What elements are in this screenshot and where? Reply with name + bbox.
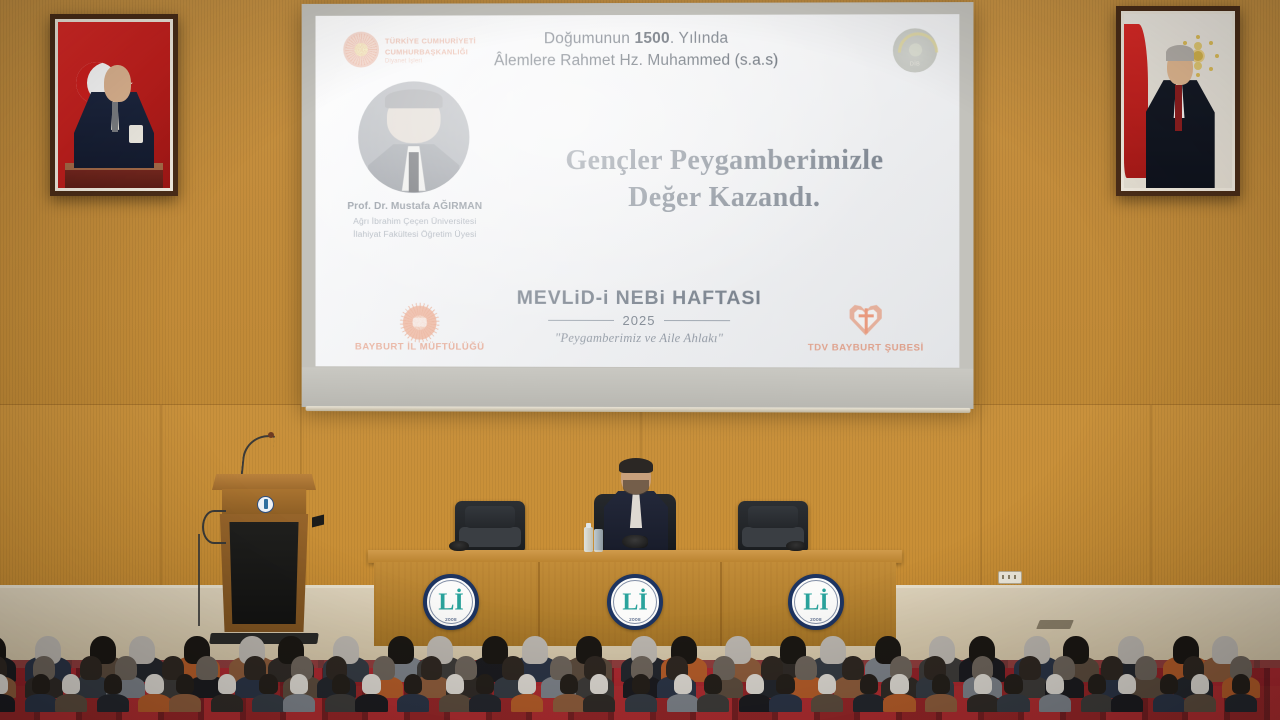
audience-member-head <box>421 656 443 680</box>
audience-member-head <box>518 674 536 694</box>
university-logo: Lİ 2008 <box>423 574 479 630</box>
audience-member <box>97 694 129 712</box>
desk-microphone <box>449 541 469 551</box>
portrait-tie <box>1175 85 1181 130</box>
audience-member <box>697 694 729 712</box>
audience-member-head <box>259 674 277 694</box>
audience-member <box>853 694 885 712</box>
audience-member-head <box>932 674 950 694</box>
speaker-affiliation-line2: İlahiyat Fakültesi Öğretim Üyesi <box>316 228 515 241</box>
water-bottle <box>584 527 593 552</box>
audience-member <box>138 694 170 712</box>
audience-member-head <box>1088 674 1106 694</box>
audience-member-head <box>145 674 163 694</box>
audience-member <box>739 694 771 712</box>
audience-member <box>667 694 699 712</box>
audience-member <box>325 694 357 712</box>
presentation-slide: TÜRKİYE CUMHURİYETİ CUMHURBAŞKANLIĞI Diy… <box>316 14 960 368</box>
slide-title-line2: Değer Kazandı. <box>504 180 945 217</box>
org-right: TDV BAYBURT ŞUBESİ <box>790 302 941 353</box>
audience-member-head <box>476 674 494 694</box>
audience-member <box>1184 694 1216 712</box>
header-suffix: . Yılında <box>670 30 728 47</box>
wall-outlet <box>998 571 1022 584</box>
audience-member-head <box>1019 656 1041 680</box>
audience-member <box>553 694 585 712</box>
header-number: 1500 <box>635 30 670 47</box>
portrait-pocket-square <box>129 125 144 143</box>
slide-header: Doğumunun 1500. Yılında Âlemlere Rahmet … <box>316 28 960 73</box>
podium-cable <box>198 534 200 626</box>
university-logo: Lİ 2008 <box>788 574 844 630</box>
audience-member <box>769 694 801 712</box>
audience-member <box>1039 694 1071 712</box>
org-left-name: BAYBURT İL MÜFTÜLÜĞÜ <box>345 341 494 352</box>
audience-member-head <box>974 674 992 694</box>
audience-member-head <box>176 674 194 694</box>
podium-top <box>212 474 316 490</box>
audience-member-head <box>362 674 380 694</box>
audience-member-head <box>1160 674 1178 694</box>
audience-member <box>169 694 201 712</box>
audience-member-head <box>860 674 878 694</box>
audience-member <box>883 694 915 712</box>
university-logo-year: 2008 <box>792 617 840 622</box>
audience-member-head <box>1118 674 1136 694</box>
audience-member-head <box>80 656 102 680</box>
portrait-artwork <box>1124 14 1232 188</box>
audience-member <box>811 694 843 712</box>
audience <box>0 626 1280 720</box>
framed-portrait-president <box>1116 6 1240 196</box>
desk-microphone <box>622 535 648 548</box>
water-bottle <box>594 529 603 552</box>
audience-member <box>625 694 657 712</box>
speaker-tie <box>409 152 419 192</box>
speaker-name: Prof. Dr. Mustafa AĞIRMAN <box>316 201 515 212</box>
audience-member-head <box>1004 674 1022 694</box>
org-left: BAYBURT İL MÜFTÜLÜĞÜ <box>345 306 494 353</box>
audience-member <box>967 694 999 712</box>
audience-member-head <box>890 674 908 694</box>
university-logo-year: 2008 <box>611 617 659 622</box>
event-subtitle: "Peygamberimiz ve Aile Ahlakı" <box>474 331 804 347</box>
audience-member-head <box>446 674 464 694</box>
audience-member <box>925 694 957 712</box>
audience-member <box>55 694 87 712</box>
speaker-photo <box>358 81 469 193</box>
divider-line-right <box>664 320 730 321</box>
audience-member <box>1081 694 1113 712</box>
desk-microphone <box>786 541 806 551</box>
portrait-hair <box>1166 45 1194 61</box>
header-prefix: Doğumunun <box>544 30 635 47</box>
divider-line-left <box>548 320 614 321</box>
turkish-flag-icon <box>1124 24 1148 177</box>
audience-member-head <box>746 674 764 694</box>
portrait-artwork <box>58 22 170 188</box>
audience-member-head <box>795 656 817 680</box>
portrait-head <box>104 65 131 102</box>
event-title: MEVLiD-i NEBi HAFTASI <box>474 287 804 310</box>
audience-member-head <box>560 674 578 694</box>
audience-member <box>397 694 429 712</box>
audience-member <box>355 694 387 712</box>
audience-member-head <box>632 674 650 694</box>
audience-member <box>583 694 615 712</box>
university-logo-mark: Lİ <box>622 590 647 614</box>
portrait-mat <box>55 19 173 191</box>
audience-member-head <box>218 674 236 694</box>
audience-member <box>1111 694 1143 712</box>
audience-member-head <box>404 674 422 694</box>
audience-member-head <box>1046 674 1064 694</box>
muftuluk-emblem-icon <box>403 306 437 340</box>
speaker-hair <box>385 89 443 108</box>
audience-member <box>511 694 543 712</box>
audience-member <box>1225 694 1257 712</box>
slide-title: Gençler Peygamberimizle Değer Kazandı. <box>504 143 945 217</box>
podium-cable <box>202 510 226 544</box>
audience-member-head <box>1135 656 1157 680</box>
audience-member <box>1153 694 1185 712</box>
audience-member <box>25 694 57 712</box>
portrait-tie <box>112 102 118 132</box>
audience-member <box>283 694 315 712</box>
audience-member-head <box>590 674 608 694</box>
university-logo-mark: Lİ <box>803 590 828 614</box>
audience-member-head <box>842 656 864 680</box>
audience-member-head <box>62 674 80 694</box>
audience-member-head <box>32 674 50 694</box>
event-year-row: 2025 <box>474 313 804 329</box>
university-logo: Lİ 2008 <box>607 574 663 630</box>
tdv-emblem-icon <box>846 302 886 340</box>
audience-member-head <box>820 636 846 664</box>
event-block: MEVLiD-i NEBi HAFTASI 2025 "Peygamberimi… <box>474 287 804 347</box>
microphone-icon <box>268 432 274 438</box>
audience-member-head <box>1191 674 1209 694</box>
audience-member <box>252 694 284 712</box>
slide-title-line1: Gençler Peygamberimizle <box>504 143 945 180</box>
portrait-mat <box>1121 11 1235 191</box>
audience-member-head <box>104 674 122 694</box>
speaker-affiliation-line1: Ağrı İbrahim Çeçen Üniversitesi <box>316 215 515 228</box>
slide-header-line2: Âlemlere Rahmet Hz. Muhammed (s.a.s) <box>316 49 960 73</box>
audience-member-head <box>704 674 722 694</box>
audience-member <box>211 694 243 712</box>
speaker-beard <box>623 480 649 495</box>
audience-member-head <box>332 674 350 694</box>
audience-member-head <box>196 656 218 680</box>
audience-member-head <box>1232 674 1250 694</box>
slide-header-line1: Doğumunun 1500. Yılında <box>316 28 960 50</box>
podium <box>212 474 316 640</box>
audience-member <box>997 694 1029 712</box>
university-logo-mark: Lİ <box>438 590 463 614</box>
audience-member-head <box>818 674 836 694</box>
audience-member-head <box>290 674 308 694</box>
audience-member <box>439 694 471 712</box>
audience-member-head <box>674 674 692 694</box>
speaker-affiliation: Ağrı İbrahim Çeçen Üniversitesi İlahiyat… <box>316 215 515 242</box>
photo-scene: TÜRKİYE CUMHURİYETİ CUMHURBAŞKANLIĞI Diy… <box>0 0 1280 720</box>
audience-member-head <box>776 674 794 694</box>
podium-front-panel <box>228 522 300 624</box>
screen-bottom-bar <box>302 367 974 409</box>
org-right-name: TDV BAYBURT ŞUBESİ <box>790 342 941 353</box>
event-year: 2025 <box>623 313 656 328</box>
framed-portrait-ataturk <box>50 14 178 196</box>
podium-emblem-icon <box>257 496 274 513</box>
audience-member <box>469 694 501 712</box>
speaker-hair <box>619 458 653 473</box>
university-logo-year: 2008 <box>427 617 475 622</box>
projection-screen: TÜRKİYE CUMHURİYETİ CUMHURBAŞKANLIĞI Diy… <box>302 2 974 409</box>
audience-member-head <box>522 636 548 664</box>
